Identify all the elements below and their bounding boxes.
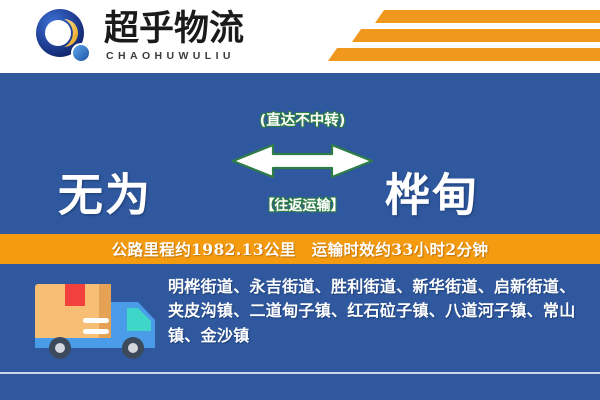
brand-name-cn: 超乎物流 (104, 12, 244, 48)
banner-header: 超乎物流 CHAOHUWULIU (0, 0, 600, 73)
banner-footer (0, 374, 600, 400)
roundtrip-note: 【往返运输】 (225, 195, 380, 215)
route-arrow-group: (直达不中转) 【往返运输】 (225, 109, 380, 229)
brand-logo: 超乎物流 CHAOHUWULIU (34, 7, 244, 67)
orange-speed-stripes-icon (300, 10, 600, 65)
circle-crescent-logo-icon (34, 8, 96, 66)
coverage-section: 明桦街道、永吉街道、胜利街道、新华街道、启新街道、夹皮沟镇、二道甸子镇、红石砬子… (0, 264, 600, 372)
distance-duration-label: 公路里程约1982.13公里 运输时效约33小时2分钟 (112, 238, 489, 260)
double-headed-arrow-icon (225, 139, 380, 183)
stripe-1 (375, 10, 600, 23)
route-info-bar: 公路里程约1982.13公里 运输时效约33小时2分钟 (0, 234, 600, 264)
coverage-areas-text: 明桦街道、永吉街道、胜利街道、新华街道、启新街道、夹皮沟镇、二道甸子镇、红石砬子… (168, 275, 582, 348)
brand-wordmark: 超乎物流 CHAOHUWULIU (104, 12, 244, 63)
brand-name-en: CHAOHUWULIU (106, 50, 244, 62)
direct-note: (直达不中转) (225, 109, 380, 130)
destination-city: 桦甸 (385, 159, 479, 224)
origin-city: 无为 (58, 159, 152, 224)
logistics-route-banner: 超乎物流 CHAOHUWULIU 无为 (直达不中转) 【往返运输】 桦甸 公路… (0, 0, 600, 400)
stripe-2 (352, 29, 600, 42)
delivery-truck-icon (27, 276, 167, 366)
route-panel: 无为 (直达不中转) 【往返运输】 桦甸 (0, 73, 600, 234)
stripe-3 (328, 48, 600, 61)
